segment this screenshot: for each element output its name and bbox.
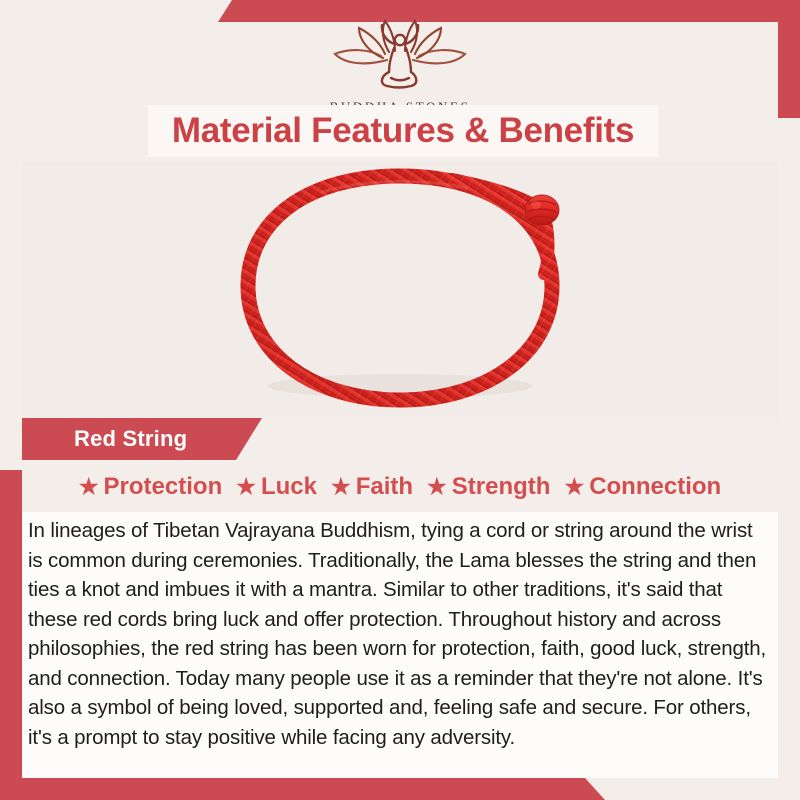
headline-banner: Material Features & Benefits xyxy=(148,105,658,157)
description-panel: In lineages of Tibetan Vajrayana Buddhis… xyxy=(22,512,778,778)
decorative-band-bottom xyxy=(0,778,800,800)
benefit-label: Protection xyxy=(104,473,223,501)
star-icon: ★ xyxy=(79,476,99,498)
benefit-item-strength: ★ Strength xyxy=(427,473,550,501)
star-icon: ★ xyxy=(427,476,447,498)
star-icon: ★ xyxy=(331,476,351,498)
decorative-band-left xyxy=(0,470,22,800)
brand-logo: BUDDHA STONES xyxy=(0,18,800,115)
page-title: Material Features & Benefits xyxy=(172,111,634,151)
lotus-meditation-icon xyxy=(325,18,475,95)
star-icon: ★ xyxy=(236,476,256,498)
benefit-item-connection: ★ Connection xyxy=(564,473,721,501)
description-text: In lineages of Tibetan Vajrayana Buddhis… xyxy=(28,516,768,752)
benefit-item-faith: ★ Faith xyxy=(331,473,413,501)
infographic-poster: BUDDHA STONES Material Features & Benefi… xyxy=(0,0,800,800)
star-icon: ★ xyxy=(564,476,584,498)
benefit-item-luck: ★ Luck xyxy=(236,473,317,501)
benefit-label: Faith xyxy=(356,473,413,501)
product-photo xyxy=(22,162,778,420)
red-braided-string-bracelet-illustration xyxy=(22,162,778,420)
material-name-ribbon: Red String xyxy=(22,418,262,460)
benefit-label: Strength xyxy=(452,473,551,501)
benefits-list: ★ Protection ★ Luck ★ Faith ★ Strength ★… xyxy=(22,466,778,508)
benefit-item-protection: ★ Protection xyxy=(79,473,222,501)
material-name-label: Red String xyxy=(74,426,187,452)
benefit-label: Connection xyxy=(589,473,721,501)
benefit-label: Luck xyxy=(261,473,317,501)
